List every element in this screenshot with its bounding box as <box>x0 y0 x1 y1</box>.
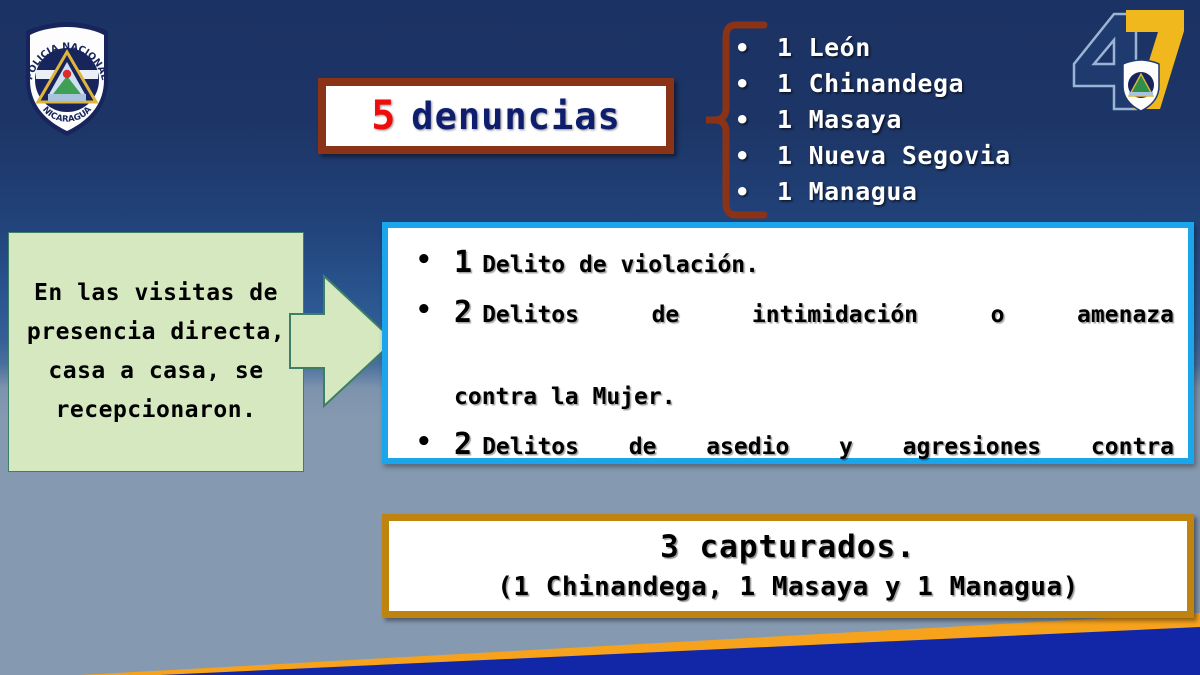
list-item: • 1 Managua <box>735 174 1155 210</box>
badge-sun <box>63 70 71 78</box>
bullet-icon: • <box>735 66 777 102</box>
policia-nacional-badge: POLICIA NACIONAL NICARAGUA <box>14 18 120 140</box>
delito-count: 2 <box>454 427 472 462</box>
dept-name: Managua <box>809 174 918 210</box>
note-box: En las visitas de presencia directa, cas… <box>8 232 304 472</box>
capturados-headline: 3 capturados. <box>660 526 916 568</box>
departments-list: • 1 León • 1 Chinandega • 1 Masaya • 1 N… <box>735 30 1155 210</box>
dept-qty: 1 <box>777 138 793 174</box>
bullet-icon: • <box>735 30 777 66</box>
blue-band-shape <box>160 627 1200 675</box>
list-item: • 1Delito de violación. <box>402 242 1174 286</box>
bullet-icon: • <box>416 240 432 281</box>
bullet-icon: • <box>735 138 777 174</box>
delitos-list: • 1Delito de violación. • 2Delitos de in… <box>402 242 1174 550</box>
badge-water <box>48 94 86 101</box>
dept-name: Chinandega <box>809 66 965 102</box>
delito-text-cont: contra la Mujer. <box>454 384 676 410</box>
list-item: • 1 Masaya <box>735 102 1155 138</box>
delito-text: Delito de violación. <box>482 252 759 278</box>
delitos-box: • 1Delito de violación. • 2Delitos de in… <box>382 222 1194 464</box>
bullet-icon: • <box>735 174 777 210</box>
orange-band-shape <box>80 613 1200 675</box>
bullet-icon: • <box>416 290 432 331</box>
list-item: • 1 León <box>735 30 1155 66</box>
dept-name: León <box>809 30 871 66</box>
dept-name: Nueva Segovia <box>809 138 1011 174</box>
delito-text: Delitos de intimidación o amenaza <box>454 302 1174 369</box>
bullet-icon: • <box>416 422 432 463</box>
delito-text: Delitos de asedio y agresiones contra <box>454 434 1174 501</box>
title-box: 5 denuncias <box>318 78 674 154</box>
delito-count: 2 <box>454 295 472 330</box>
slide-canvas: POLICIA NACIONAL NICARAGUA 5 denuncias <box>0 0 1200 675</box>
dept-qty: 1 <box>777 30 793 66</box>
note-text: En las visitas de presencia directa, cas… <box>23 274 289 430</box>
list-item: • 2Delitos de intimidación o amenaza con… <box>402 292 1174 418</box>
list-item: • 1 Chinandega <box>735 66 1155 102</box>
dept-qty: 1 <box>777 174 793 210</box>
delito-count: 1 <box>454 245 472 280</box>
bullet-icon: • <box>735 102 777 138</box>
capturados-box: 3 capturados. (1 Chinandega, 1 Masaya y … <box>382 514 1194 618</box>
dept-qty: 1 <box>777 102 793 138</box>
dept-name: Masaya <box>809 102 902 138</box>
denuncias-count: 5 <box>371 93 395 139</box>
right-arrow-icon <box>288 274 396 408</box>
denuncias-label: denuncias <box>411 95 620 138</box>
dept-qty: 1 <box>777 66 793 102</box>
arrow-shape <box>290 276 394 406</box>
capturados-detail: (1 Chinandega, 1 Masaya y 1 Managua) <box>497 568 1079 606</box>
list-item: • 1 Nueva Segovia <box>735 138 1155 174</box>
